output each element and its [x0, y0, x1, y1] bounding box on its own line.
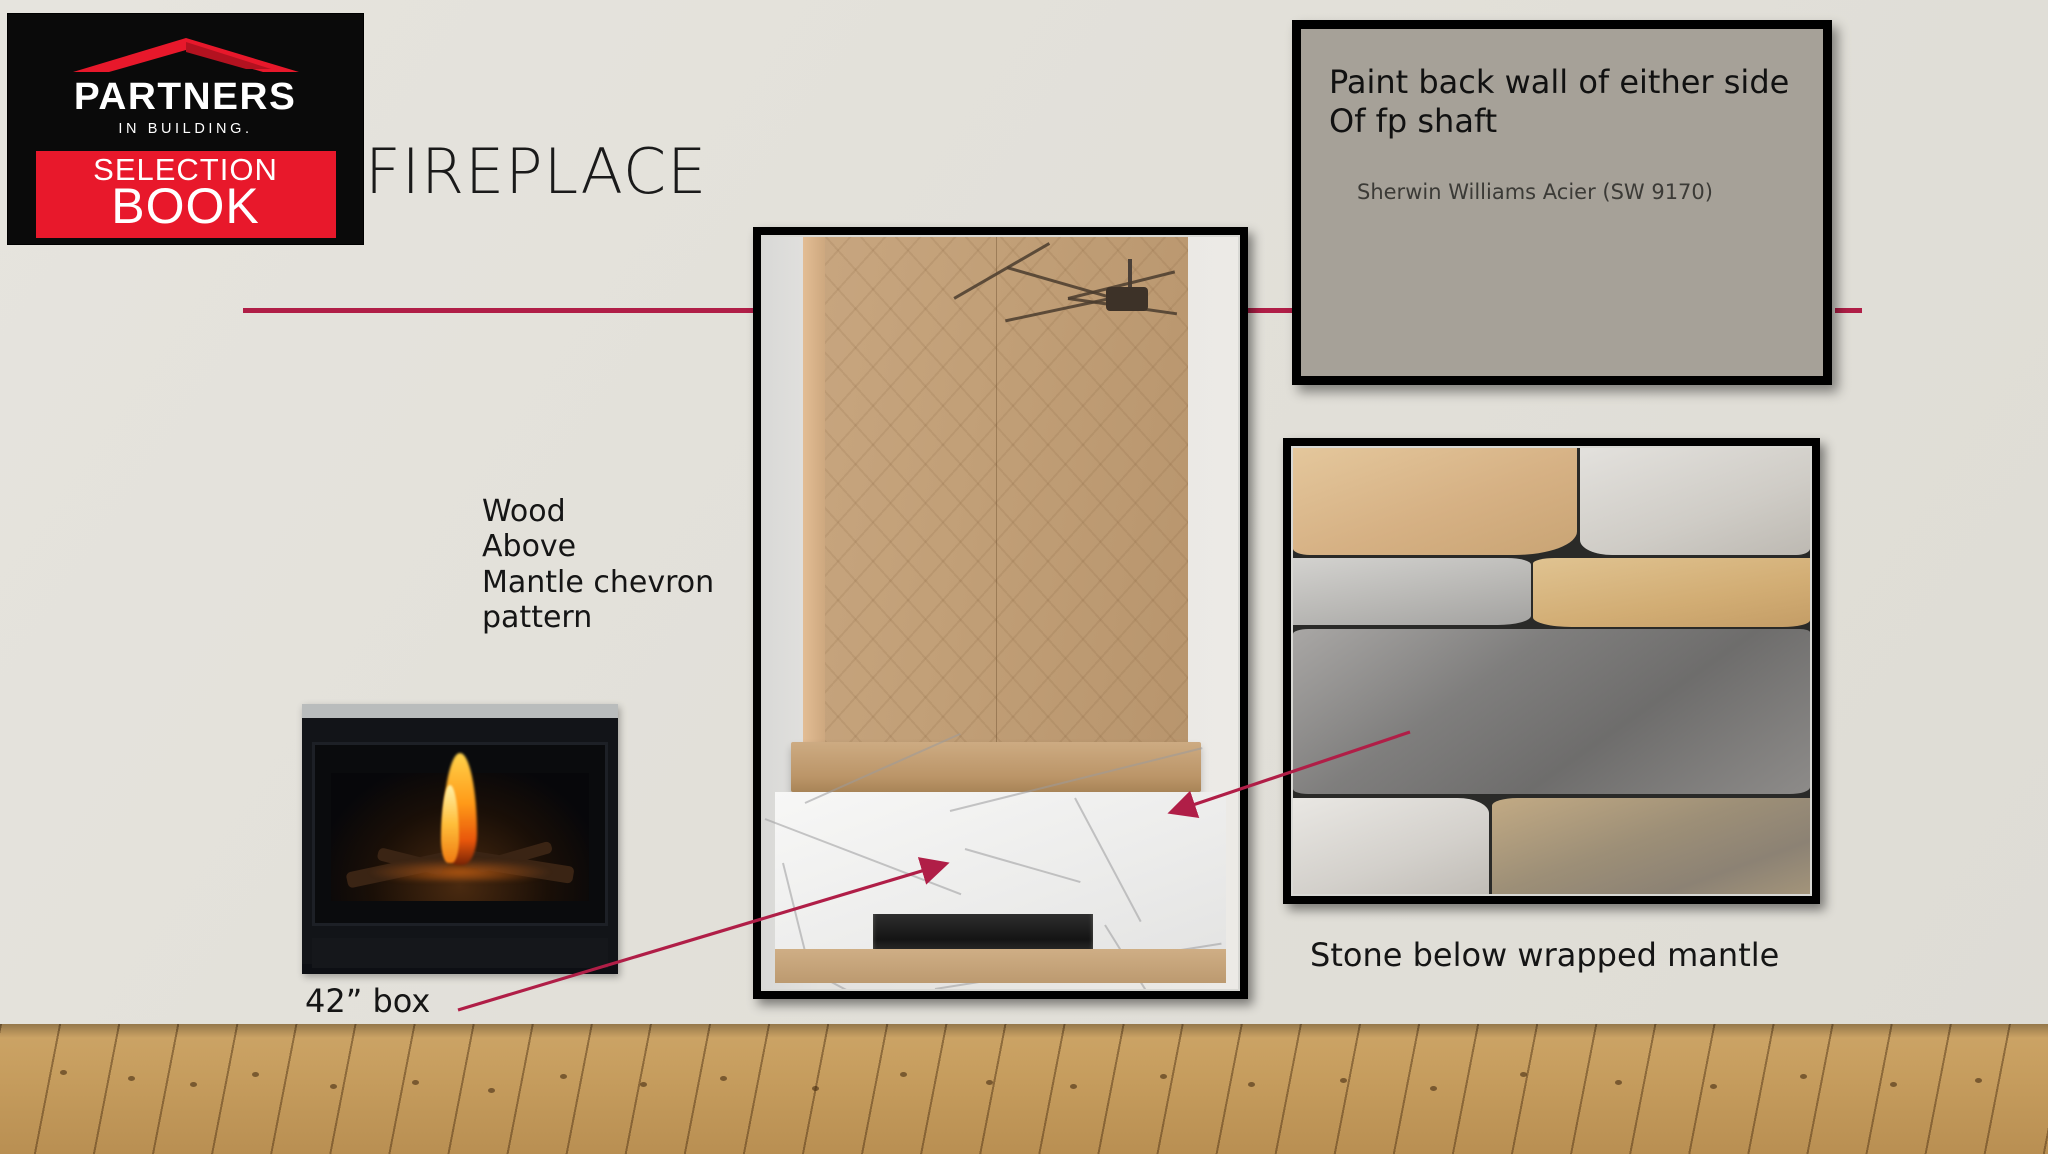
- stone-block: [1293, 448, 1577, 555]
- stone-block: [1293, 629, 1810, 794]
- insert-body: [302, 718, 618, 964]
- insert-base: [312, 938, 608, 968]
- logo-selection-book-badge: SELECTION BOOK: [36, 151, 336, 238]
- fan-blade: [1005, 297, 1113, 322]
- paint-product-name: Sherwin Williams Acier (SW 9170): [1357, 180, 1801, 204]
- insert-firebox: [331, 773, 589, 901]
- wood-note-line3: Mantle chevron: [482, 565, 714, 600]
- firebox-size-label: 42” box: [305, 982, 430, 1020]
- marble-surround: [775, 792, 1226, 951]
- stone-block: [1533, 558, 1810, 627]
- page-title: FIREPLACE: [365, 135, 707, 208]
- stone-block: [1492, 798, 1810, 894]
- wood-note: Wood Above Mantle chevron pattern: [482, 494, 714, 636]
- logo-partners-text: PARTNERS: [74, 78, 297, 116]
- ceiling-fan-icon: [998, 259, 1198, 339]
- stone-veneer-sample-photo: [1283, 438, 1820, 904]
- gas-fireplace-insert-photo: [302, 704, 618, 974]
- fan-blade: [1007, 267, 1113, 300]
- wrapped-mantle-shelf: [791, 742, 1201, 792]
- wood-note-line1: Wood: [482, 494, 714, 529]
- accent-rule-right: [1835, 308, 1862, 313]
- paint-note-line1: Paint back wall of either side: [1329, 63, 1801, 102]
- logo-inbuilding-text: IN BUILDING.: [118, 121, 252, 137]
- roof-chevron-icon: [71, 36, 301, 76]
- stone-caption: Stone below wrapped mantle: [1310, 936, 1779, 974]
- paint-swatch: Paint back wall of either side Of fp sha…: [1301, 29, 1823, 376]
- fireplace-chevron-shaft-photo: [753, 227, 1248, 999]
- slide-canvas: PARTNERS IN BUILDING. SELECTION BOOK FIR…: [0, 0, 2048, 1154]
- accent-rule-left: [243, 308, 753, 313]
- floor-knots: [0, 1024, 2048, 1154]
- wood-plank-floor-band: [0, 1024, 2048, 1154]
- hearth-ledge: [775, 949, 1226, 983]
- logo-book-text: BOOK: [111, 183, 259, 231]
- stone-block: [1293, 798, 1489, 894]
- fan-hub: [1106, 287, 1148, 311]
- wood-note-line2: Above: [482, 529, 714, 564]
- paint-note-box: Paint back wall of either side Of fp sha…: [1292, 20, 1832, 385]
- insert-bezel: [312, 742, 608, 926]
- brand-logo-block: PARTNERS IN BUILDING. SELECTION BOOK: [8, 14, 363, 244]
- paint-note-line2: Of fp shaft: [1329, 102, 1801, 141]
- center-photo-inner: [761, 235, 1240, 991]
- shaft-left-edge: [803, 237, 825, 757]
- stone-course-grid: [1293, 448, 1810, 894]
- stone-photo-inner: [1291, 446, 1812, 896]
- stone-block: [1293, 558, 1531, 625]
- stone-block: [1580, 448, 1810, 555]
- wood-note-line4: pattern: [482, 600, 714, 635]
